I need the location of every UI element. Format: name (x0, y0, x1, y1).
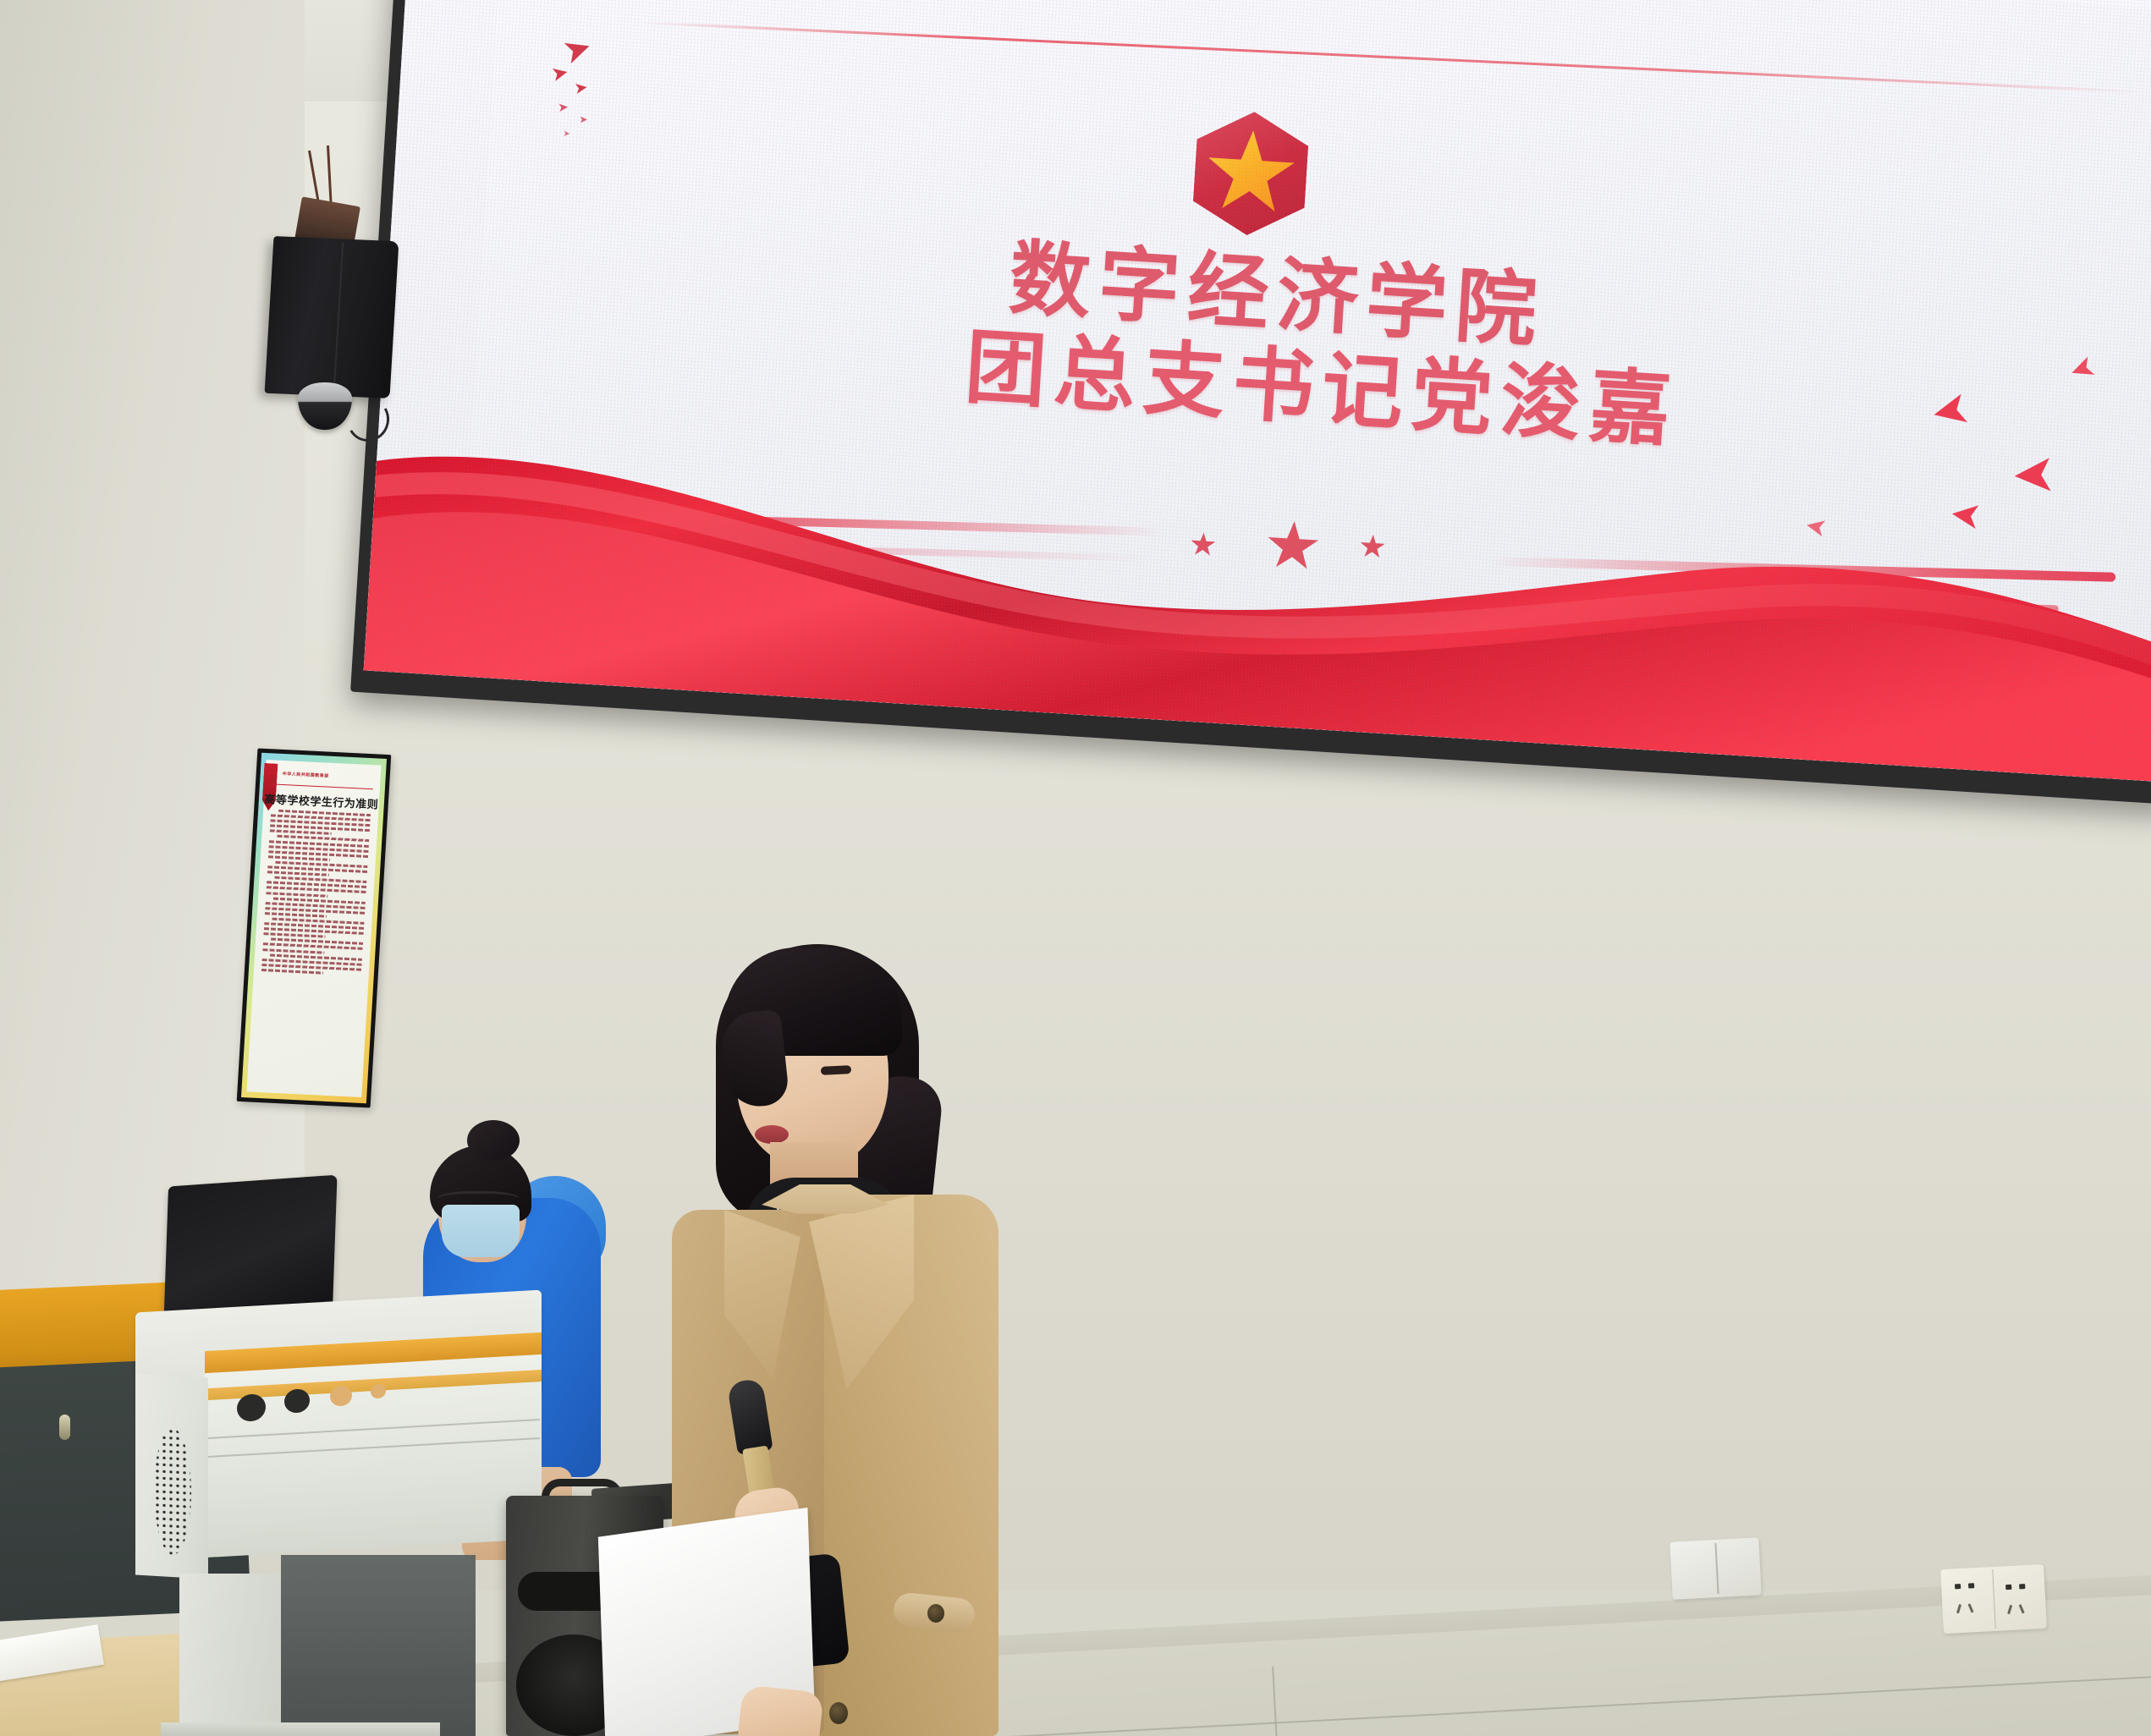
poster-sheet: 中华人民共和国教育部 高等学校学生行为准则 (246, 760, 381, 1097)
photo-scene: ❮❯ ❮❯ ➤ ➤ ➤ ➤ ➤ ➤ (0, 0, 2151, 1736)
poster-border: 中华人民共和国教育部 高等学校学生行为准则 (241, 753, 387, 1104)
presenter-eye (821, 1065, 851, 1075)
presenter-mouth (755, 1125, 789, 1144)
bird-icon: ➤ (563, 130, 570, 140)
podium-base (161, 1722, 440, 1736)
led-presentation-screen[interactable]: ➤ ➤ ➤ ➤ ➤ ➤ 数字经济学院 团总支书记党浚嘉 (350, 0, 2151, 805)
power-socket[interactable] (1940, 1564, 2047, 1634)
presenter-hand-holding-paper (736, 1684, 823, 1736)
coat-sleeve-button (927, 1604, 944, 1623)
lecture-podium[interactable] (135, 1301, 542, 1736)
wall-loudspeaker (265, 236, 399, 398)
light-switch[interactable] (1670, 1537, 1761, 1599)
student-presenter (643, 931, 998, 1736)
podium-column (179, 1574, 281, 1736)
coat-button (829, 1702, 848, 1724)
poster-body-text (255, 809, 371, 1090)
poster-rule (272, 783, 373, 789)
screen-surface: ➤ ➤ ➤ ➤ ➤ ➤ 数字经济学院 团总支书记党浚嘉 (364, 0, 2151, 782)
face-mask (442, 1205, 520, 1257)
bird-icon: ➤ (573, 80, 589, 97)
desk-drawer-handle[interactable] (59, 1415, 70, 1440)
presentation-slide: ➤ ➤ ➤ ➤ ➤ ➤ 数字经济学院 团总支书记党浚嘉 (364, 0, 2151, 782)
bird-icon: ➤ (579, 114, 587, 124)
student-code-of-conduct-poster: 中华人民共和国教育部 高等学校学生行为准则 (237, 749, 392, 1108)
podium-column-shadow (281, 1555, 476, 1736)
operator-hair-bun (467, 1120, 520, 1161)
bird-icon: ➤ (558, 101, 569, 114)
communist-youth-league-emblem (1191, 108, 1311, 239)
poster-title: 高等学校学生行为准则 (263, 790, 379, 812)
poster-header-text: 中华人民共和国教育部 (283, 771, 329, 779)
